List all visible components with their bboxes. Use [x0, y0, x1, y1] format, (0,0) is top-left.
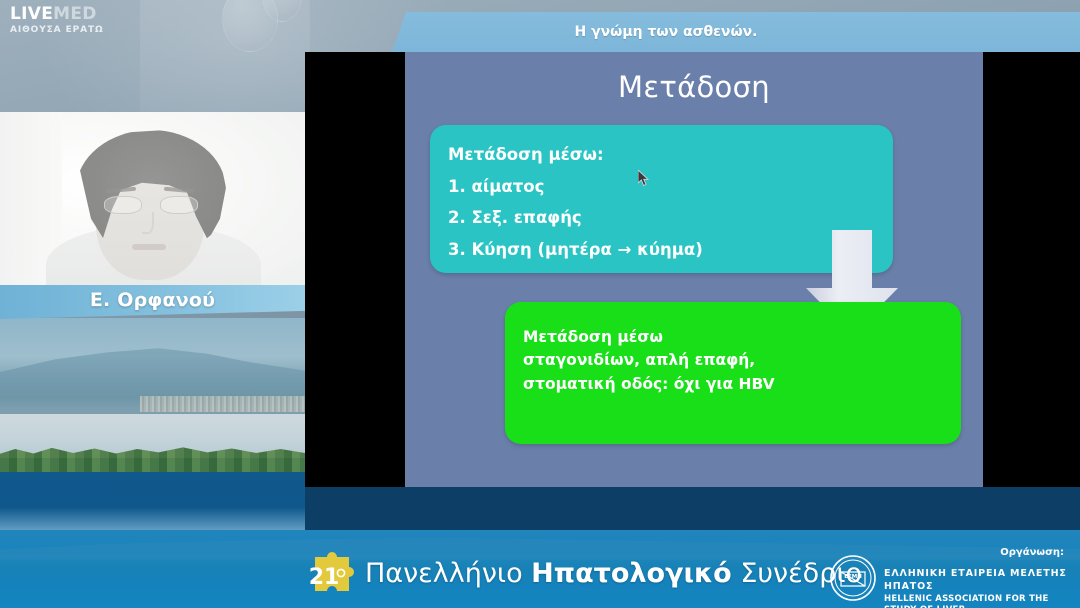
organizer-name-block: ΕΛΛΗΝΙΚΗ ΕΤΑΙΡΕΙΑ ΜΕΛΕΤΗΣ ΗΠΑΤΟΣ HELLENI… [884, 568, 1080, 608]
green-line-1: σταγονιδίων, απλή επαφή, [523, 349, 943, 372]
session-title-banner: Η γνώμη των ασθενών. [392, 12, 1080, 52]
green-line-2: στοματική οδός: όχι για HBV [523, 373, 943, 396]
logo-med-text: MED [53, 4, 97, 24]
presentation-slide: Μετάδοση Μετάδοση μέσω: 1. αίματος 2. Σε… [405, 52, 983, 487]
mouse-cursor-icon [638, 170, 651, 188]
shared-screen-area[interactable]: Μετάδοση Μετάδοση μέσω: 1. αίματος 2. Σε… [305, 52, 1080, 487]
webcam-overexposure-haze [0, 112, 305, 287]
speaker-name-label: Ε. Ορφανού [90, 289, 215, 311]
no-transmission-box: Μετάδοση μέσω σταγονιδίων, απλή επαφή, σ… [505, 302, 961, 444]
svg-text:ΕΕΜΗ: ΕΕΜΗ [844, 574, 862, 580]
conference-title-part1: Πανελλήνιο [365, 558, 531, 589]
decorative-lamp-icon [222, 0, 278, 52]
venue-landscape-photo [0, 318, 305, 533]
eemh-society-logo-icon: ΕΕΜΗ [829, 554, 877, 602]
green-line-0: Μετάδοση μέσω [523, 326, 943, 349]
session-title-label: Η γνώμη των ασθενών. [575, 24, 758, 40]
organizer-label: Οργάνωση: [1000, 547, 1064, 558]
room-label: ΑΙΘΟΥΣΑ ΕΡΑΤΩ [10, 26, 104, 35]
landscape-town [140, 396, 305, 412]
livemed-logo: LIVEMED ΑΙΘΟΥΣΑ ΕΡΑΤΩ [10, 6, 104, 35]
conference-title-part2: Ηπατολογικό [531, 558, 732, 589]
slide-title: Μετάδοση [405, 70, 983, 104]
svg-text:21: 21 [309, 565, 340, 590]
organizer-name-english: HELLENIC ASSOCIATION FOR THE STUDY OF LI… [884, 594, 1080, 608]
conference-title: Πανελλήνιο Ηπατολογικό Συνέδριο [365, 558, 862, 589]
speaker-webcam-tile[interactable] [0, 112, 305, 287]
cyan-line-1: 1. αίματος [448, 171, 875, 203]
logo-live-text: LIVE [10, 4, 53, 24]
organizer-name-greek: ΕΛΛΗΝΙΚΗ ΕΤΑΙΡΕΙΑ ΜΕΛΕΤΗΣ ΗΠΑΤΟΣ [884, 568, 1080, 594]
cyan-line-0: Μετάδοση μέσω: [448, 139, 875, 171]
broadcast-stage: LIVEMED ΑΙΘΟΥΣΑ ΕΡΑΤΩ Ε. Ορφανού Η γνώμη… [0, 0, 1080, 608]
decorative-lamp-icon [262, 0, 302, 22]
edition-puzzle-logo-icon: 21 [307, 551, 357, 597]
